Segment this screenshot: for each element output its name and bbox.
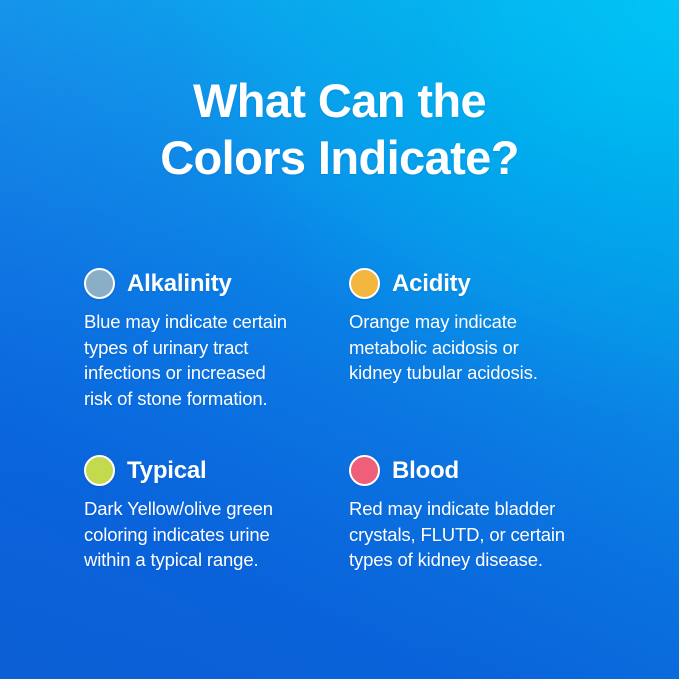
color-entry-header: Typical (84, 455, 349, 486)
color-entry-title: Alkalinity (127, 272, 232, 296)
description-line: types of kidney disease. (349, 547, 604, 573)
color-entry-title: Acidity (392, 272, 471, 296)
card-content: What Can the Colors Indicate? Alkalinity… (0, 0, 679, 679)
blood-color-swatch (349, 455, 380, 486)
description-line: kidney tubular acidosis. (349, 360, 604, 386)
color-entry-description: Dark Yellow/olive green coloring indicat… (84, 496, 349, 573)
page-title-line-2: Colors Indicate? (0, 129, 679, 186)
color-entry-header: Blood (349, 455, 604, 486)
color-entry-header: Alkalinity (84, 268, 349, 299)
description-line: risk of stone formation. (84, 386, 349, 412)
description-line: metabolic acidosis or (349, 335, 604, 361)
color-entry-title: Typical (127, 459, 207, 483)
description-line: Dark Yellow/olive green (84, 496, 349, 522)
description-line: Orange may indicate (349, 309, 604, 335)
color-indicator-infographic-card: What Can the Colors Indicate? Alkalinity… (0, 0, 679, 679)
color-entry-typical: Typical Dark Yellow/olive green coloring… (84, 455, 349, 573)
description-line: crystals, FLUTD, or certain (349, 522, 604, 548)
color-entry-blood: Blood Red may indicate bladder crystals,… (349, 455, 604, 573)
color-entries-grid: Alkalinity Blue may indicate certain typ… (84, 268, 604, 573)
color-entry-acidity: Acidity Orange may indicate metabolic ac… (349, 268, 604, 411)
description-line: coloring indicates urine (84, 522, 349, 548)
page-title: What Can the Colors Indicate? (0, 72, 679, 186)
description-line: infections or increased (84, 360, 349, 386)
page-title-line-1: What Can the (0, 72, 679, 129)
color-entry-title: Blood (392, 459, 459, 483)
description-line: within a typical range. (84, 547, 349, 573)
alkalinity-color-swatch (84, 268, 115, 299)
acidity-color-swatch (349, 268, 380, 299)
color-entry-alkalinity: Alkalinity Blue may indicate certain typ… (84, 268, 349, 411)
color-entry-description: Blue may indicate certain types of urina… (84, 309, 349, 411)
color-entry-description: Orange may indicate metabolic acidosis o… (349, 309, 604, 386)
description-line: types of urinary tract (84, 335, 349, 361)
description-line: Red may indicate bladder (349, 496, 604, 522)
color-entry-header: Acidity (349, 268, 604, 299)
typical-color-swatch (84, 455, 115, 486)
description-line: Blue may indicate certain (84, 309, 349, 335)
color-entry-description: Red may indicate bladder crystals, FLUTD… (349, 496, 604, 573)
